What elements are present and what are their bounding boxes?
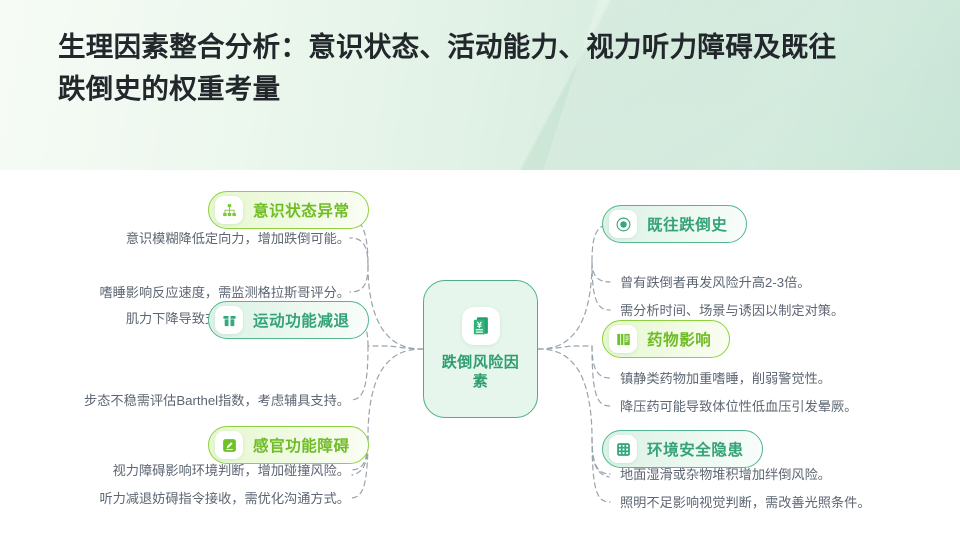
wire-right-3: [538, 349, 609, 477]
wire-left-1-leafB: [350, 266, 368, 292]
wire-right-1-leafB: [592, 262, 610, 310]
center-node[interactable]: 跌倒风险因素: [423, 280, 538, 418]
branch-node-sensory[interactable]: 感官功能障碍: [208, 426, 369, 464]
leaf-text: 曾有跌倒者再发风险升高2-3倍。: [620, 274, 811, 292]
leaf-text: 地面湿滑或杂物堆积增加绊倒风险。: [620, 466, 831, 484]
leaf-text: 照明不足影响视觉判断，需改善光照条件。: [620, 494, 871, 512]
branch-node-consciousness[interactable]: 意识状态异常: [208, 191, 369, 229]
leaf-text: 视力障碍影响环境判断，增加碰撞风险。: [48, 462, 350, 480]
grid-calendar-icon: [609, 435, 637, 463]
leaf-text: 需分析时间、场景与诱因以制定对策。: [620, 302, 844, 320]
wire-right-1: [538, 224, 609, 349]
branch-label: 环境安全隐患: [647, 438, 744, 460]
edit-pencil-icon: [215, 431, 243, 459]
wire-left-2-leafB: [350, 346, 368, 400]
leaf-text: 嗜睡影响反应速度，需监测格拉斯哥评分。: [54, 284, 350, 302]
page-title: 生理因素整合分析：意识状态、活动能力、视力听力障碍及既往 跌倒史的权重考量: [58, 26, 918, 110]
wire-right-1-leafA: [592, 262, 610, 282]
mindmap-canvas: 跌倒风险因素: [0, 170, 960, 540]
branch-node-medication[interactable]: 药物影响: [602, 320, 730, 358]
wire-left-1-leafA: [350, 238, 368, 266]
branch-label: 运动功能减退: [253, 309, 350, 331]
center-node-label: 跌倒风险因素: [435, 354, 527, 392]
branch-label: 药物影响: [647, 328, 711, 350]
branch-node-mobility[interactable]: 运动功能减退: [208, 301, 369, 339]
wire-right-2: [538, 346, 592, 349]
sitemap-icon: [215, 196, 243, 224]
branch-label: 意识状态异常: [253, 199, 350, 221]
gift-box-icon: [215, 306, 243, 334]
document-yen-icon: [462, 307, 500, 345]
wire-right-2-leafB: [592, 346, 610, 406]
leaf-text: 听力减退妨碍指令接收，需优化沟通方式。: [44, 490, 350, 508]
record-disc-icon: [609, 210, 637, 238]
leaf-text: 意识模糊降低定向力，增加跌倒可能。: [64, 230, 350, 248]
slide-header: 生理因素整合分析：意识状态、活动能力、视力听力障碍及既往 跌倒史的权重考量: [0, 0, 960, 170]
branch-label: 既往跌倒史: [647, 213, 728, 235]
mindmap-slide: 生理因素整合分析：意识状态、活动能力、视力听力障碍及既往 跌倒史的权重考量: [0, 0, 960, 540]
leaf-text: 降压药可能导致体位性低血压引发晕厥。: [620, 398, 857, 416]
leaf-text: 镇静类药物加重嗜睡，削弱警觉性。: [620, 370, 831, 388]
branch-label: 感官功能障碍: [253, 434, 350, 456]
leaf-text: 步态不稳需评估Barthel指数，考虑辅具支持。: [22, 392, 350, 410]
branch-node-fall-history[interactable]: 既往跌倒史: [602, 205, 747, 243]
wire-left-2: [368, 346, 423, 349]
book-bars-icon: [609, 325, 637, 353]
branch-node-environment[interactable]: 环境安全隐患: [602, 430, 763, 468]
